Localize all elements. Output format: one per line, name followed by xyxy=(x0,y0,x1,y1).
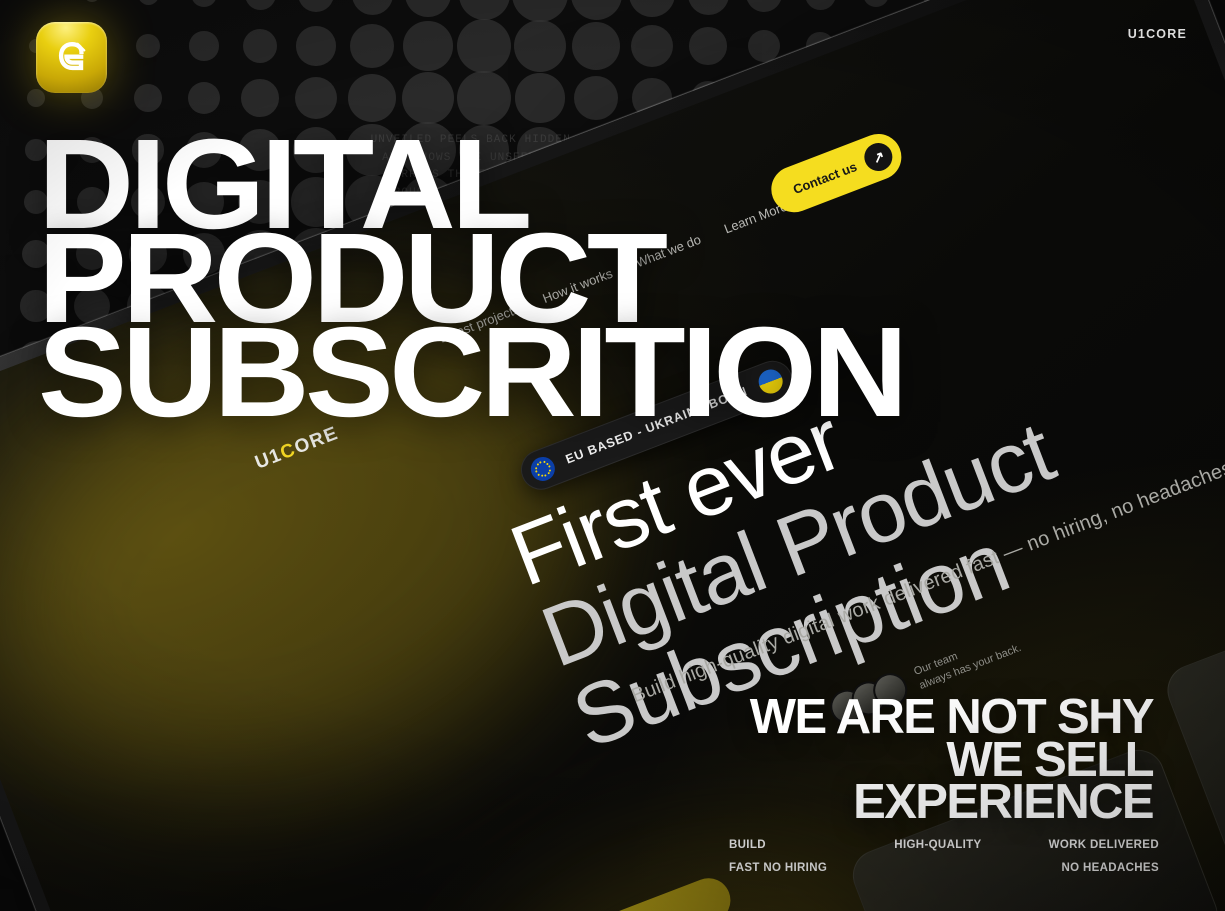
background-dot xyxy=(245,0,276,10)
eu-star xyxy=(537,473,540,476)
background-dot xyxy=(805,0,836,10)
background-dot xyxy=(27,89,45,107)
background-dot xyxy=(138,0,159,5)
background-dot xyxy=(689,27,727,65)
background-dot xyxy=(572,22,620,70)
feature-build: BUILD FAST NO HIRING xyxy=(729,828,827,875)
background-dot xyxy=(134,84,162,112)
u1core-logo-glyph xyxy=(53,39,91,77)
background-dot xyxy=(574,76,618,120)
feature-work-delivered: WORK DELIVERED NO HEADACHES xyxy=(1049,828,1159,875)
eu-star xyxy=(544,474,547,477)
eu-flag-icon xyxy=(527,453,558,484)
u1core-logo-icon[interactable] xyxy=(36,22,107,93)
page-stage: UNVEILED PEELS BACK HIDDEN LAYERS OF REA… xyxy=(0,0,1225,911)
eu-star xyxy=(535,470,538,473)
background-dot xyxy=(512,0,568,22)
background-dot xyxy=(243,29,277,63)
background-dot xyxy=(188,82,221,115)
background-dot xyxy=(863,0,889,7)
feature-build-line2: FAST NO HIRING xyxy=(729,862,827,874)
background-dot xyxy=(189,31,218,60)
background-dot xyxy=(296,26,335,65)
feature-build-line1: BUILD xyxy=(729,839,766,851)
eu-star xyxy=(546,462,549,465)
background-dot xyxy=(746,0,782,12)
background-dot xyxy=(84,0,100,2)
background-dot xyxy=(352,0,393,15)
eu-star xyxy=(543,461,546,464)
hero-line-3: SUBSCRITION xyxy=(38,326,904,420)
eu-star xyxy=(548,469,551,472)
eu-star xyxy=(535,467,538,470)
claim-line-3: EXPERIENCE xyxy=(750,781,1153,824)
eu-star xyxy=(540,475,543,478)
background-dot xyxy=(136,34,160,58)
background-dot xyxy=(514,20,567,73)
brand-wordmark: U1CORE xyxy=(1128,27,1187,41)
feature-high-quality: HIGH-QUALITY xyxy=(894,828,981,852)
eu-star xyxy=(547,472,550,475)
background-dot xyxy=(688,0,729,15)
background-dot xyxy=(191,0,217,7)
background-dot xyxy=(629,0,675,17)
eu-star xyxy=(536,463,539,466)
tablet-accent-pill xyxy=(506,872,736,911)
claim-heading: WE ARE NOT SHY WE SELL EXPERIENCE xyxy=(750,696,1153,824)
background-dot xyxy=(298,0,334,12)
background-dot xyxy=(457,19,511,73)
background-dot xyxy=(241,79,279,117)
feature-list: BUILD FAST NO HIRING HIGH-QUALITY WORK D… xyxy=(729,828,1159,875)
background-dot xyxy=(631,25,674,68)
background-dot xyxy=(571,0,622,20)
background-dot xyxy=(350,24,394,68)
feature-high-quality-line1: HIGH-QUALITY xyxy=(894,839,981,851)
eu-star xyxy=(548,465,551,468)
eu-star xyxy=(539,461,542,464)
background-dot xyxy=(748,30,781,63)
background-dot xyxy=(459,0,510,20)
background-dot xyxy=(405,0,451,17)
background-dot xyxy=(403,21,452,70)
page-title: DIGITAL PRODUCT SUBSCRITION xyxy=(38,138,870,420)
feature-work-delivered-line1: WORK DELIVERED xyxy=(1049,839,1159,851)
feature-work-delivered-line2: NO HEADACHES xyxy=(1061,862,1159,874)
